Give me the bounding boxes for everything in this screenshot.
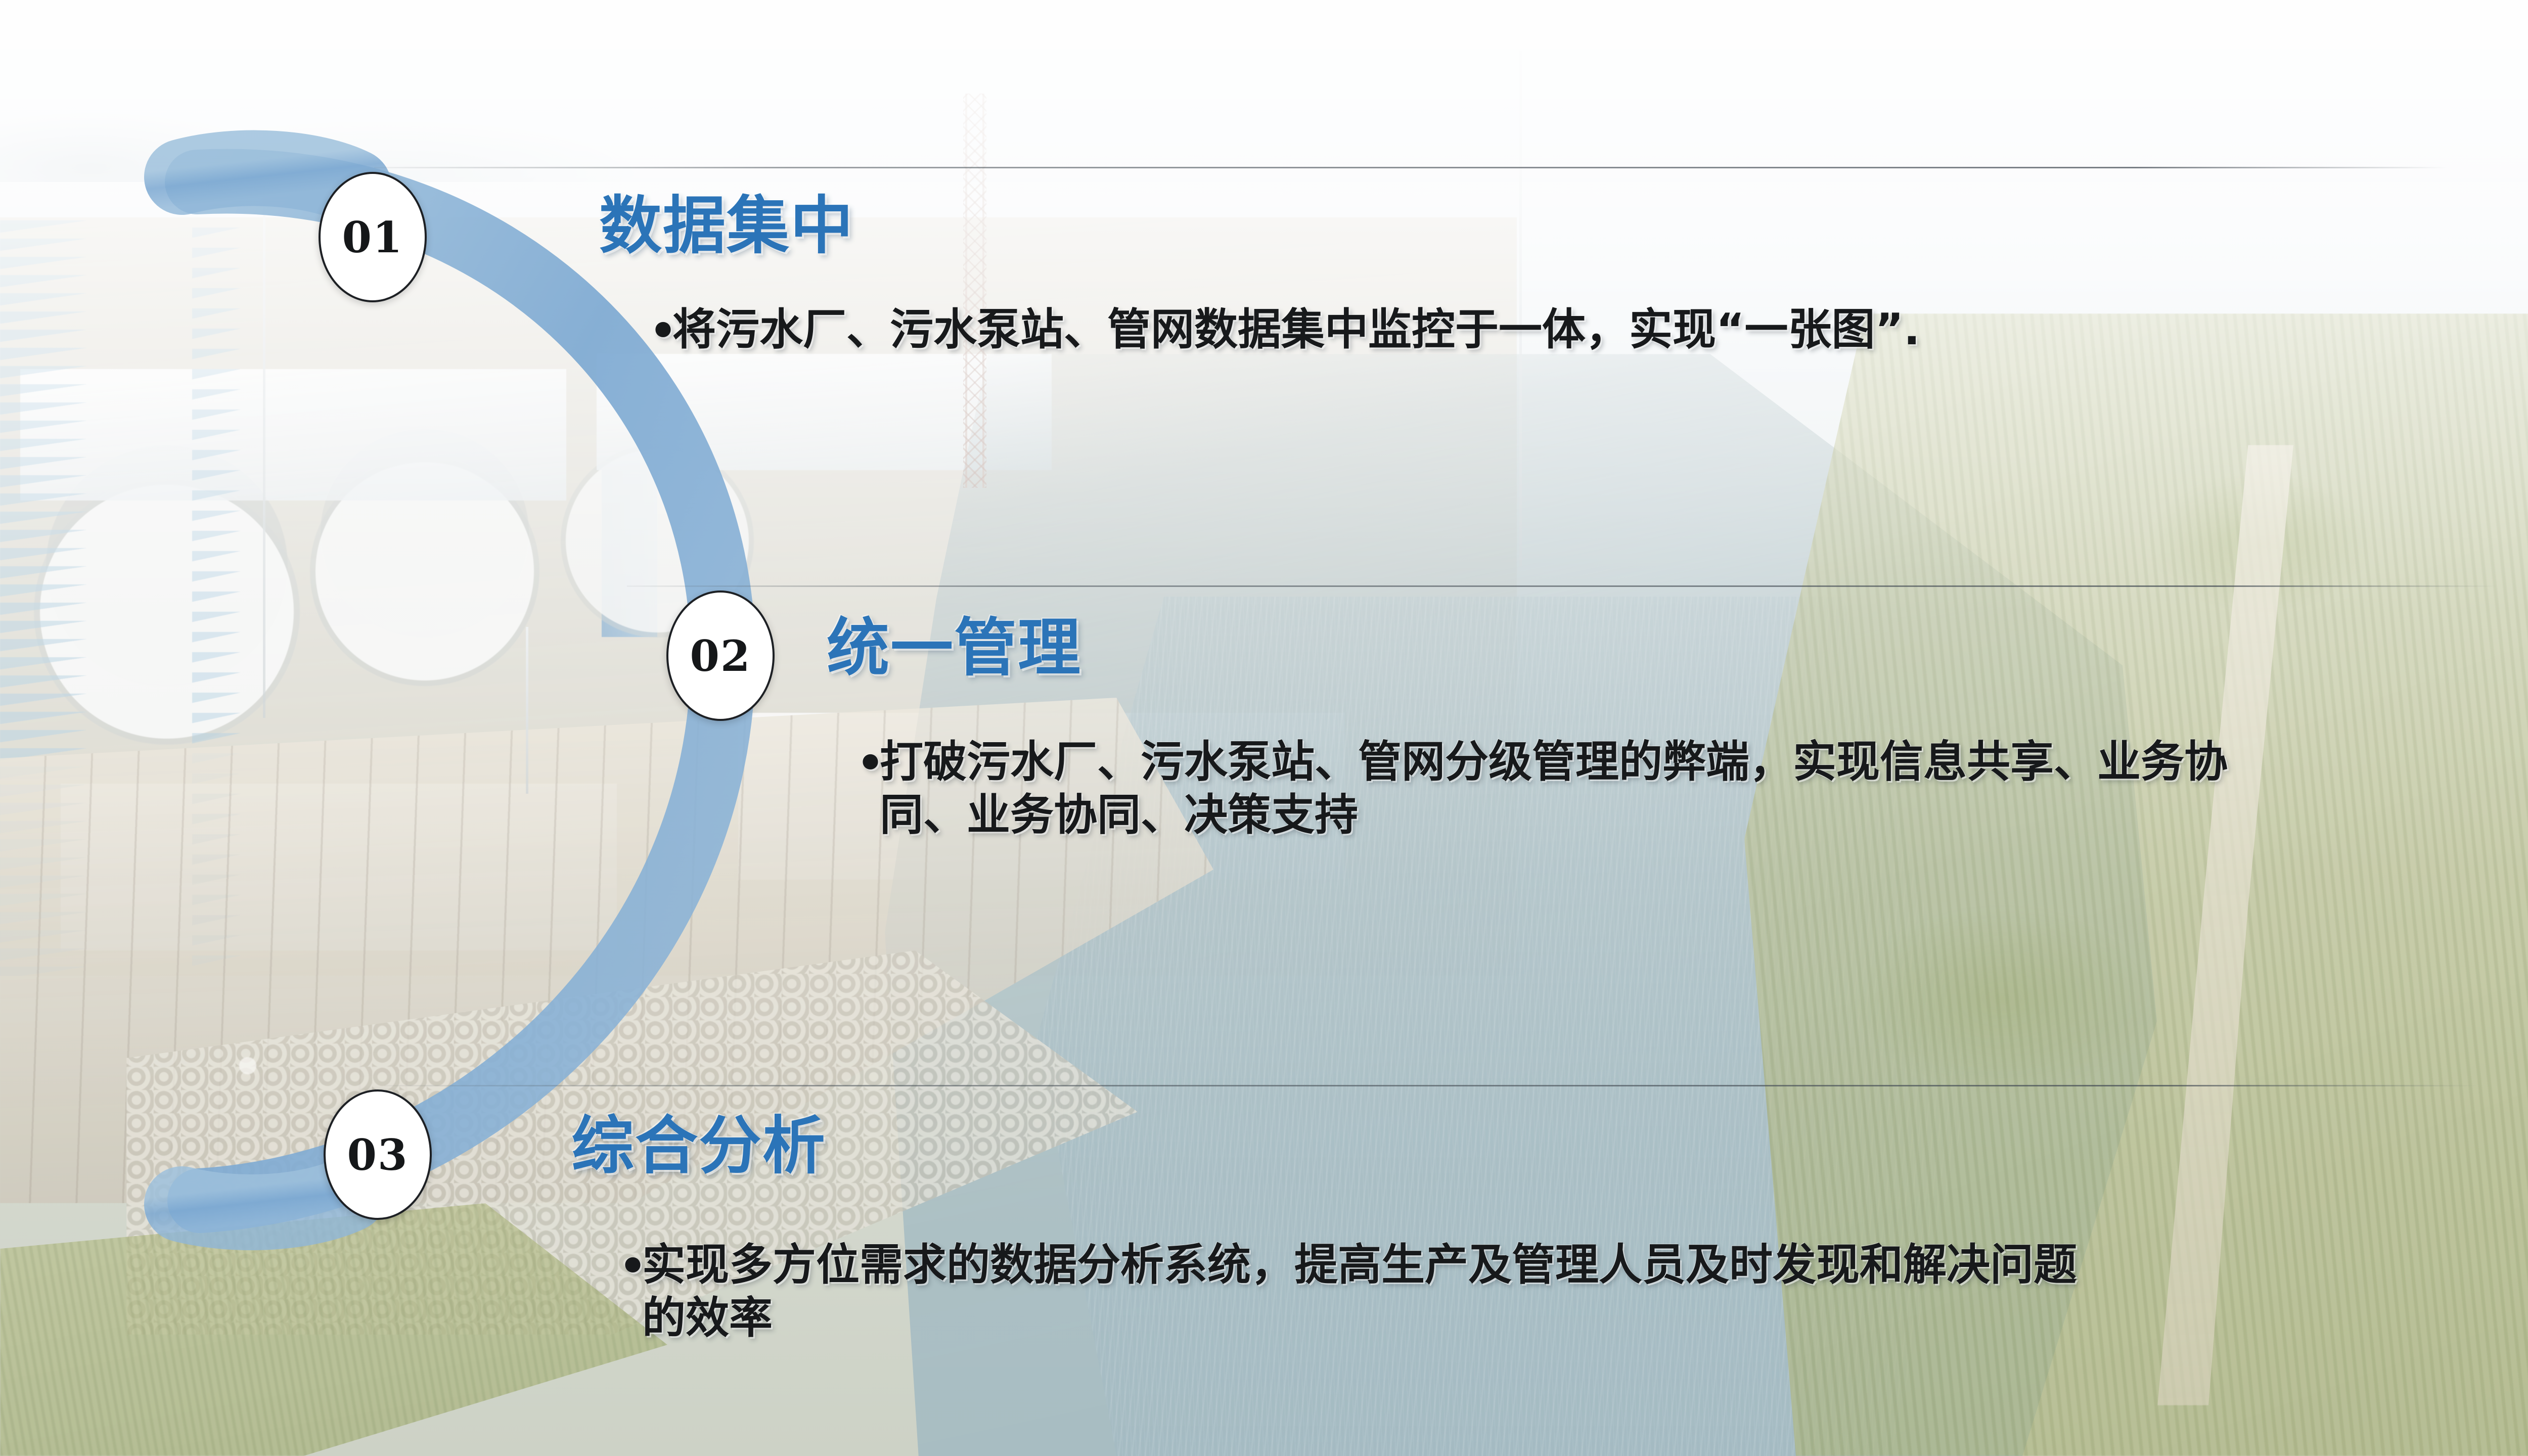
section-body-02-line-2: 同、业务协同、决策支持	[880, 789, 2528, 842]
section-body-02-line-1: 打破污水厂、污水泵站、管网分级管理的弊端，实现信息共享、业务协	[880, 736, 2528, 789]
bullet-icon-01: •	[649, 305, 677, 358]
section-badge-03[interactable]: 03	[324, 1089, 432, 1220]
section-title-02: 统一管理	[827, 597, 1081, 688]
section-badge-01[interactable]: 01	[319, 172, 427, 302]
section-body-03: • 实现多方位需求的数据分析系统，提高生产及管理人员及时发现和解决问题 的效率	[642, 1239, 2462, 1345]
section-badge-02-number: 02	[690, 631, 751, 681]
section-badge-01-number: 01	[342, 212, 403, 262]
divider-line-1	[374, 167, 2447, 168]
slide-root: 01 数据集中 • 将污水厂、污水泵站、管网数据集中监控于一体，实现“一张图”.…	[0, 0, 2528, 1456]
section-title-03: 综合分析	[571, 1095, 826, 1186]
divider-line-3	[384, 1085, 2477, 1086]
section-badge-02[interactable]: 02	[666, 590, 775, 721]
bullet-icon-03: •	[619, 1240, 647, 1293]
section-body-03-line-1: 实现多方位需求的数据分析系统，提高生产及管理人员及时发现和解决问题	[642, 1239, 2462, 1292]
section-body-01-line-1: 将污水厂、污水泵站、管网数据集中监控于一体，实现“一张图”.	[672, 303, 2442, 356]
section-title-01: 数据集中	[599, 174, 854, 265]
section-badge-03-number: 03	[347, 1130, 409, 1180]
divider-line-2	[627, 585, 2498, 587]
section-body-03-line-2: 的效率	[642, 1292, 2462, 1345]
bullet-icon-02: •	[856, 737, 884, 790]
section-body-01: • 将污水厂、污水泵站、管网数据集中监控于一体，实现“一张图”.	[672, 303, 2442, 356]
section-body-02: • 打破污水厂、污水泵站、管网分级管理的弊端，实现信息共享、业务协 同、业务协同…	[880, 736, 2528, 842]
